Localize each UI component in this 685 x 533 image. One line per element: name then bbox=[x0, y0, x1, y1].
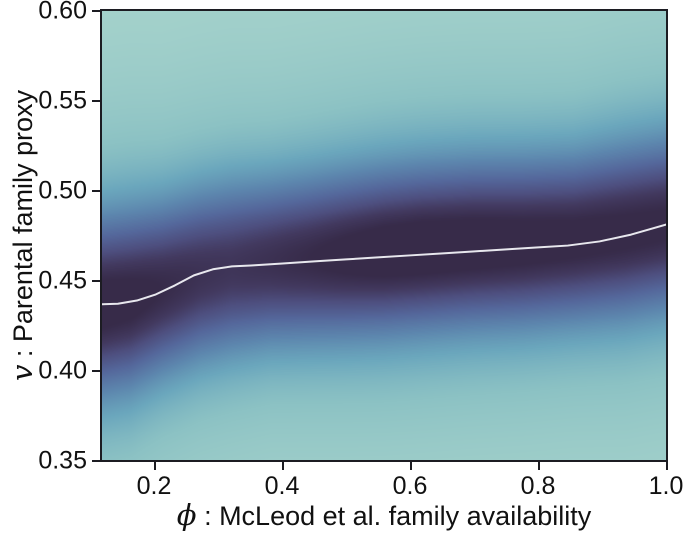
y-tick-label-0: 0.60 bbox=[1, 0, 87, 24]
y-tick-label-4: 0.40 bbox=[1, 359, 87, 384]
plot-area bbox=[100, 9, 668, 462]
x-axis-text: : McLeod et al. family availability bbox=[204, 501, 591, 531]
y-tick-mark-5 bbox=[92, 460, 100, 462]
x-axis-symbol: ϕ bbox=[177, 498, 197, 532]
y-axis-text: : Parental family proxy bbox=[8, 90, 38, 357]
y-tick-mark-2 bbox=[92, 190, 100, 192]
x-axis-title: ϕ : McLeod et al. family availability bbox=[100, 500, 668, 532]
x-tick-label-3: 0.8 bbox=[493, 474, 583, 499]
y-tick-label-5: 0.35 bbox=[1, 449, 87, 474]
y-tick-mark-0 bbox=[92, 10, 100, 12]
x-tick-mark-0 bbox=[154, 462, 156, 470]
x-tick-mark-1 bbox=[282, 462, 284, 470]
y-tick-mark-3 bbox=[92, 280, 100, 282]
y-tick-mark-4 bbox=[92, 370, 100, 372]
x-tick-label-0: 0.2 bbox=[109, 474, 199, 499]
y-tick-label-3: 0.45 bbox=[1, 269, 87, 294]
x-tick-mark-4 bbox=[666, 462, 668, 470]
x-tick-label-4: 1.0 bbox=[621, 474, 685, 499]
x-tick-label-1: 0.4 bbox=[237, 474, 327, 499]
mean-curve-layer bbox=[102, 11, 666, 460]
conditional-mean-curve bbox=[102, 225, 666, 305]
y-tick-mark-1 bbox=[92, 100, 100, 102]
density-plot-figure: v : Parental family proxy 0.60 0.55 0.50… bbox=[0, 0, 685, 533]
x-tick-label-2: 0.6 bbox=[365, 474, 455, 499]
y-tick-label-1: 0.55 bbox=[1, 89, 87, 114]
x-tick-mark-3 bbox=[538, 462, 540, 470]
x-tick-mark-2 bbox=[410, 462, 412, 470]
y-tick-label-2: 0.50 bbox=[1, 179, 87, 204]
y-axis-title: v : Parental family proxy bbox=[6, 9, 38, 462]
